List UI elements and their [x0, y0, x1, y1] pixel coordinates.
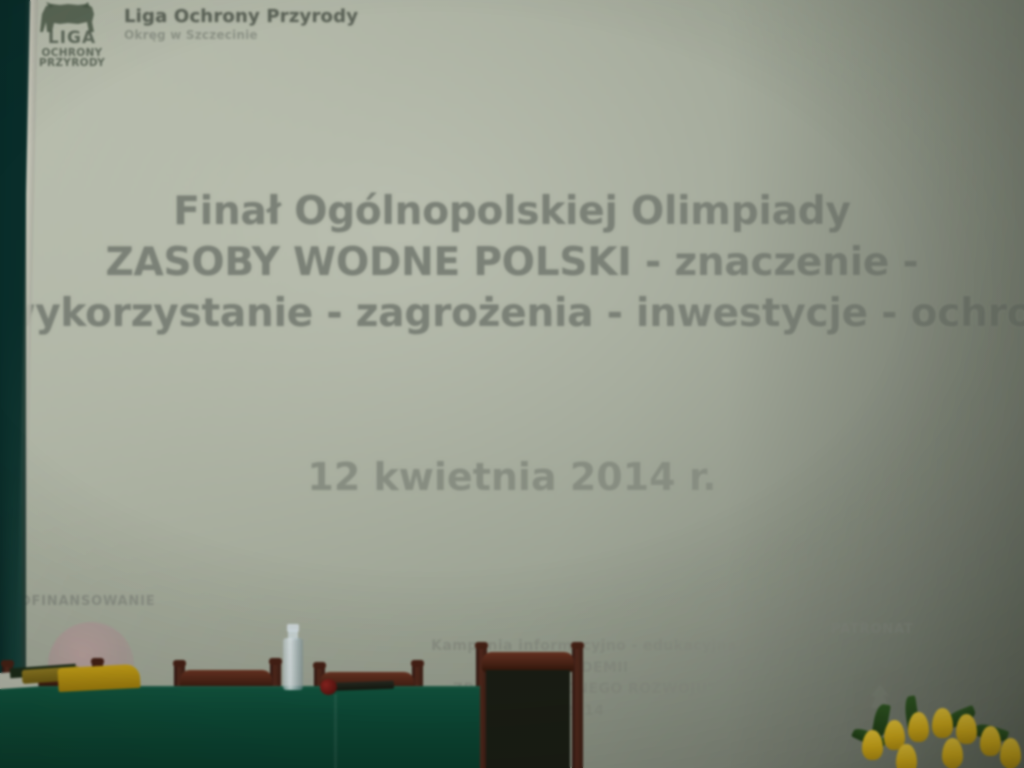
funding-label: DOFINANSOWANIE [8, 594, 155, 609]
campaign-line-2: "AKADEMII [404, 658, 764, 680]
patron-label: PATRONAT [831, 622, 914, 637]
sponsor-emblem [48, 622, 134, 708]
campaign-line-4: 2014 [404, 701, 764, 723]
patron-emblem [845, 662, 915, 742]
campaign-line-1: Kampania informacyjno - edukacyjna [404, 636, 764, 658]
title-line-1: Finał Ogólnopolskiej Olimpiady [0, 190, 1024, 235]
organization-name: Liga Ochrony Przyrody [124, 6, 358, 27]
logo-line-3: PRZYRODY [36, 58, 108, 69]
eagle-crest-icon [845, 662, 915, 742]
slide-title: Finał Ogólnopolskiej Olimpiady ZASOBY WO… [0, 190, 1024, 337]
lop-logo-wordmark: LIGA OCHRONY PRZYRODY [36, 30, 108, 69]
title-line-3: - wykorzystanie - zagrożenia - inwestycj… [0, 292, 1006, 337]
lop-logo: LIGA OCHRONY PRZYRODY [34, 2, 108, 68]
title-line-2: ZASOBY WODNE POLSKI - znaczenie - [0, 241, 1024, 286]
organization-subtitle: Okręg w Szczecinie [124, 28, 358, 42]
slide-date: 12 kwietnia 2014 r. [0, 455, 1024, 499]
photo-of-projection-screen: LIGA OCHRONY PRZYRODY Liga Ochrony Przyr… [0, 0, 1024, 768]
logo-line-1: LIGA [36, 30, 108, 48]
campaign-line-3: ZRÓWNOWAŻONEGO ROZWOJU" [404, 679, 764, 701]
campaign-caption: Kampania informacyjno - edukacyjna "AKAD… [404, 636, 764, 723]
organization-block: Liga Ochrony Przyrody Okręg w Szczecinie [124, 2, 358, 42]
slide-header: LIGA OCHRONY PRZYRODY Liga Ochrony Przyr… [34, 2, 454, 68]
